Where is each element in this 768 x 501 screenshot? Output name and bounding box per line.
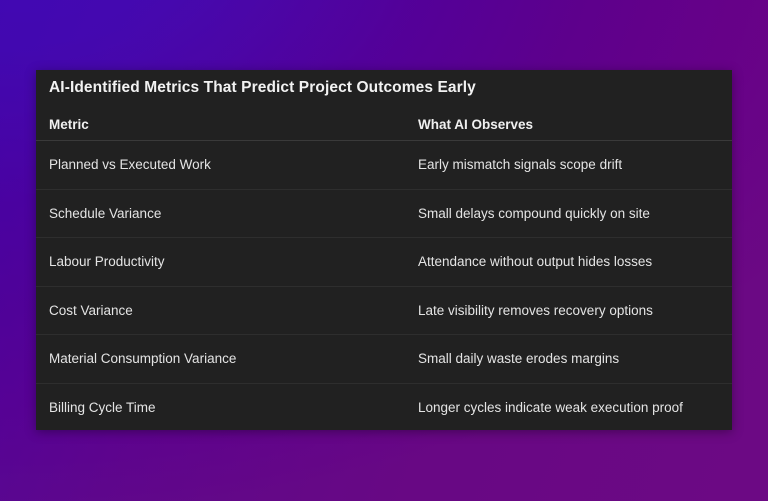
cell-observation: Attendance without output hides losses xyxy=(408,238,732,287)
card-title: AI-Identified Metrics That Predict Proje… xyxy=(49,79,476,97)
column-header-what-ai-observes: What AI Observes xyxy=(408,108,732,141)
metrics-table: Metric What AI Observes Planned vs Execu… xyxy=(36,108,732,431)
cell-observation: Early mismatch signals scope drift xyxy=(408,141,732,190)
table-row: Schedule Variance Small delays compound … xyxy=(36,189,732,238)
column-header-metric: Metric xyxy=(36,108,408,141)
table-row: Billing Cycle Time Longer cycles indicat… xyxy=(36,383,732,431)
table-row: Cost Variance Late visibility removes re… xyxy=(36,286,732,335)
table-row: Planned vs Executed Work Early mismatch … xyxy=(36,141,732,190)
cell-metric: Planned vs Executed Work xyxy=(36,141,408,190)
cell-observation: Small delays compound quickly on site xyxy=(408,189,732,238)
cell-metric: Material Consumption Variance xyxy=(36,335,408,384)
cell-metric: Labour Productivity xyxy=(36,238,408,287)
cell-observation: Small daily waste erodes margins xyxy=(408,335,732,384)
slide-canvas: AI-Identified Metrics That Predict Proje… xyxy=(0,0,768,501)
cell-observation: Longer cycles indicate weak execution pr… xyxy=(408,383,732,431)
table-row: Material Consumption Variance Small dail… xyxy=(36,335,732,384)
cell-observation: Late visibility removes recovery options xyxy=(408,286,732,335)
cell-metric: Schedule Variance xyxy=(36,189,408,238)
metrics-card: AI-Identified Metrics That Predict Proje… xyxy=(36,70,732,430)
table-row: Labour Productivity Attendance without o… xyxy=(36,238,732,287)
cell-metric: Cost Variance xyxy=(36,286,408,335)
table-header-row: Metric What AI Observes xyxy=(36,108,732,141)
cell-metric: Billing Cycle Time xyxy=(36,383,408,431)
